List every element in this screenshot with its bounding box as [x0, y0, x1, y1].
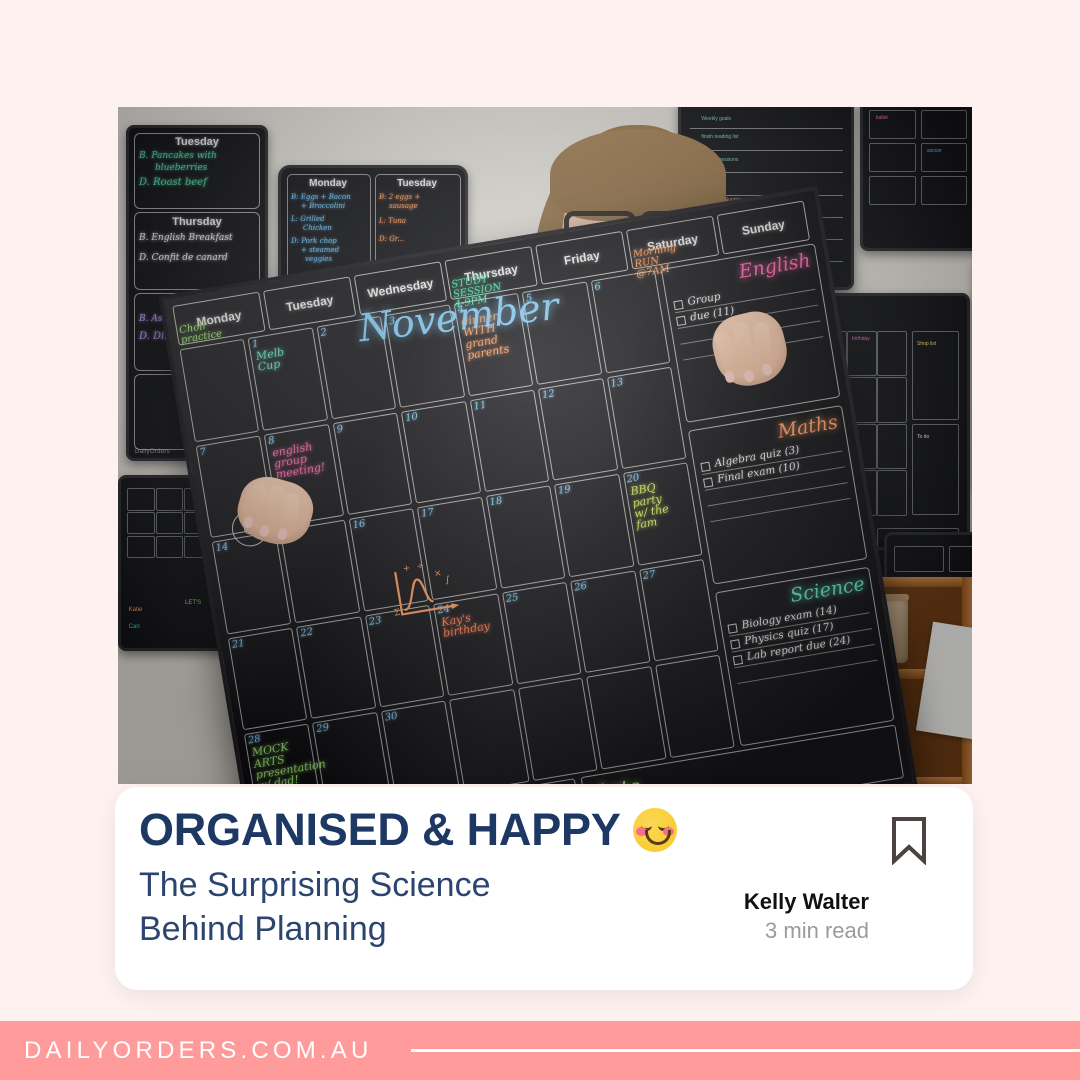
hero-photo: Weekly goals finish reading list gym x4 …: [118, 107, 972, 784]
page-title: ORGANISED & HAPPY: [139, 807, 621, 852]
read-time: 3 min read: [744, 917, 869, 946]
smiling-face-with-smiling-eyes-icon: [633, 808, 677, 852]
card-meta-block: Kelly Walter 3 min read: [697, 807, 947, 970]
bookmark-icon[interactable]: [889, 815, 929, 870]
website-url[interactable]: DAILYORDERS.COM.AU: [24, 1037, 373, 1065]
subtitle-line-2: Behind Planning: [139, 908, 673, 952]
social-post-canvas: Weekly goals finish reading list gym x4 …: [0, 0, 1080, 1080]
headline-row: ORGANISED & HAPPY: [139, 807, 673, 852]
byline: Kelly Walter 3 min read: [744, 888, 869, 946]
footer-banner: DAILYORDERS.COM.AU: [0, 1021, 1080, 1080]
article-card[interactable]: ORGANISED & HAPPY The Surprising Science…: [115, 787, 973, 990]
banner-divider-rule: [411, 1049, 1080, 1052]
author-name: Kelly Walter: [744, 888, 869, 916]
subtitle-line-1: The Surprising Science: [139, 864, 673, 908]
subtitle: The Surprising Science Behind Planning: [139, 864, 673, 951]
card-text-block: ORGANISED & HAPPY The Surprising Science…: [139, 807, 673, 951]
